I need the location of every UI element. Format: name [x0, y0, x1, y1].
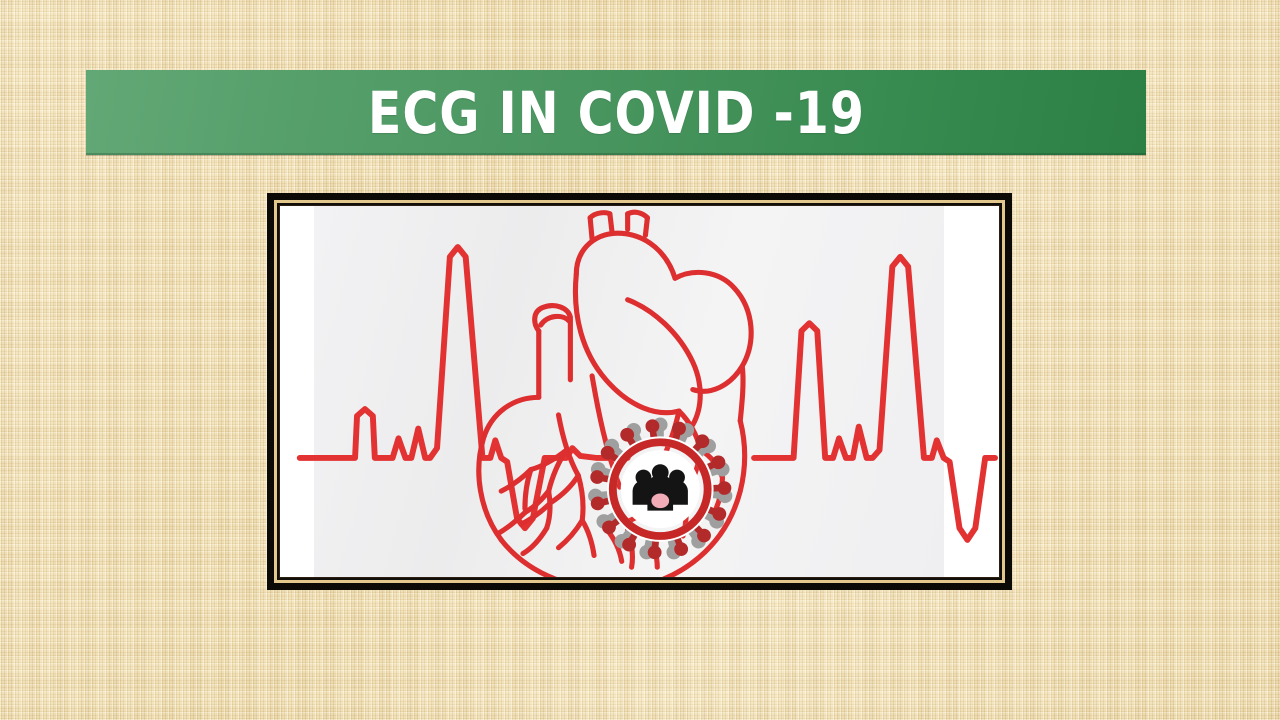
picture-frame — [267, 193, 1012, 590]
illustration-canvas — [280, 206, 999, 577]
people-icon-mouth — [651, 494, 669, 509]
coronavirus-icon — [587, 417, 733, 560]
picture-frame-inlay — [274, 200, 1005, 583]
ecg-heart-covid-illustration — [280, 206, 999, 577]
title-banner: ECG IN COVID -19 — [86, 70, 1146, 155]
picture-frame-inner-line — [279, 205, 1000, 578]
ecg-waveform-right — [754, 257, 995, 540]
page-title: ECG IN COVID -19 — [367, 84, 864, 142]
slide-root: ECG IN COVID -19 — [0, 0, 1280, 720]
